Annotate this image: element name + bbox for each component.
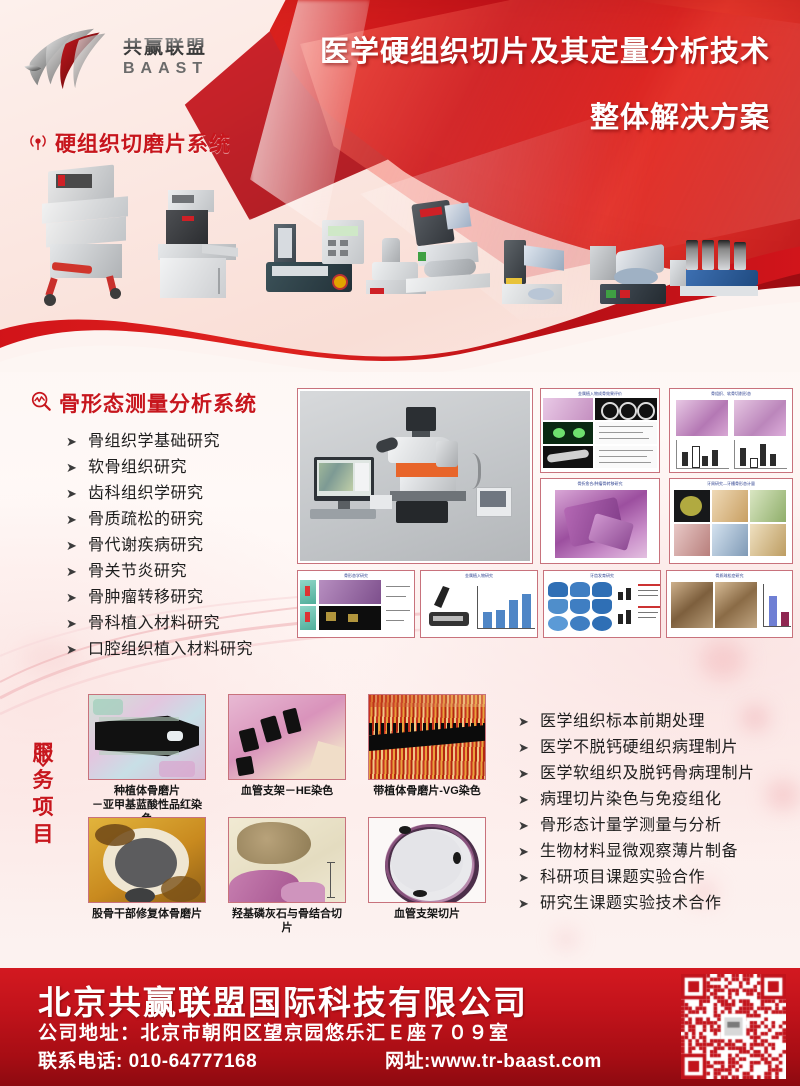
service-photo-6 [368, 817, 486, 903]
service-photo-grid: 种植体骨磨片 －亚甲基蓝酸性品红染色 血管支架－HE染色 带植体骨磨片-VG染色 [88, 694, 508, 914]
gallery-thumb-2: 骨组织、软骨切削形态 [669, 388, 793, 473]
morphometry-item-label: 骨关节炎研究 [88, 562, 187, 581]
gallery-thumb-caption: 骨形态学研究 [298, 571, 414, 579]
gallery-thumb-caption: 骨质疏松症研究 [667, 571, 792, 579]
bullet-arrow-icon: ➤ [66, 640, 88, 659]
equipment-item-6 [500, 240, 584, 310]
gallery-thumb-caption: 牙周研究—牙槽骨形态计量 [670, 479, 792, 487]
thumb-art [669, 580, 790, 635]
decor-blob-3 [766, 780, 800, 810]
page-title-line2: 整体解决方案 [320, 94, 770, 136]
gallery-thumb-3: 骨折愈合/肿瘤骨转移研究 [540, 478, 660, 564]
bullet-arrow-icon: ➤ [518, 738, 540, 757]
service-photo-5-caption: 羟基磷灰石与骨结合切片 [228, 907, 346, 935]
services-vertical-title-char: 服 [26, 740, 60, 767]
footer-address: 公司地址：北京市朝阳区望京园悠乐汇Ｅ座７０９室 [38, 1018, 510, 1045]
morphometry-item: ➤骨肿瘤转移研究 [66, 588, 253, 607]
qr-code[interactable] [681, 974, 786, 1079]
service-item: ➤研究生课题实验技术合作 [518, 894, 755, 913]
service-item: ➤病理切片染色与免疫组化 [518, 790, 755, 809]
service-item: ➤骨形态计量学测量与分析 [518, 816, 755, 835]
service-item: ➤医学组织标本前期处理 [518, 712, 755, 731]
thumb-art [546, 580, 658, 635]
bullet-arrow-icon: ➤ [518, 790, 540, 809]
service-photo-6-caption: 血管支架切片 [368, 907, 486, 921]
bullet-arrow-icon: ➤ [66, 484, 88, 503]
services-list: ➤医学组织标本前期处理➤医学不脱钙硬组织病理制片➤医学软组织及脱钙骨病理制片➤病… [518, 712, 755, 920]
brand-logo-text: 共赢联盟 BAAST [123, 38, 208, 79]
service-item: ➤医学软组织及脱钙骨病理制片 [518, 764, 755, 783]
morphometry-item: ➤齿科组织学研究 [66, 484, 253, 503]
equipment-item-7 [590, 246, 674, 310]
gallery-thumb-6: 金属植入物研究 [420, 570, 538, 638]
gallery-thumb-caption: 金属植入物成骨效果评价 [541, 389, 659, 397]
service-item-label: 病理切片染色与免疫组化 [540, 790, 722, 809]
morphometry-item-label: 软骨组织研究 [88, 458, 187, 477]
section-heading-slicing: 硬组织切磨片系统 [28, 128, 231, 158]
morphometry-item-label: 骨科植入材料研究 [88, 614, 220, 633]
gallery-main-photo [297, 388, 533, 564]
bullet-arrow-icon: ➤ [66, 510, 88, 529]
equipment-item-2 [148, 190, 252, 310]
thumb-art [672, 398, 790, 470]
service-item-label: 科研项目课题实验合作 [540, 868, 705, 887]
service-photo-3-caption: 带植体骨磨片-VG染色 [368, 784, 486, 798]
service-item-label: 医学组织标本前期处理 [540, 712, 705, 731]
services-vertical-title-char: 项 [26, 794, 60, 821]
footer-phone: 联系电话: 010-64777168 [38, 1046, 257, 1073]
morphometry-item-label: 骨组织学基础研究 [88, 432, 220, 451]
service-photo-5 [228, 817, 346, 903]
thumb-art [300, 580, 412, 635]
bullet-arrow-icon: ➤ [66, 562, 88, 581]
services-vertical-title-char: 务 [26, 767, 60, 794]
morphometry-item-label: 口腔组织植入材料研究 [88, 640, 253, 659]
section-heading-morphometry: 骨形态测量分析系统 [30, 388, 257, 418]
service-photo-2-caption: 血管支架－HE染色 [228, 784, 346, 798]
service-item-label: 骨形态计量学测量与分析 [540, 816, 722, 835]
morphometry-item-label: 骨肿瘤转移研究 [88, 588, 204, 607]
thumb-art [423, 580, 535, 635]
morphometry-item-label: 骨质疏松的研究 [88, 510, 204, 529]
bullet-arrow-icon: ➤ [66, 588, 88, 607]
service-item-label: 医学不脱钙硬组织病理制片 [540, 738, 738, 757]
morphometry-item: ➤口腔组织植入材料研究 [66, 640, 253, 659]
gallery-thumb-caption: 骨组织、软骨切削形态 [670, 389, 792, 397]
service-photo-1 [88, 694, 206, 780]
morphometry-item-label: 齿科组织学研究 [88, 484, 204, 503]
gallery-thumb-7: 牙齿发育研究 [543, 570, 661, 638]
decor-blob-1 [700, 640, 746, 680]
decor-blob-5 [556, 930, 576, 948]
service-item-label: 医学软组织及脱钙骨病理制片 [540, 764, 755, 783]
footer-bar: 北京共赢联盟国际科技有限公司 公司地址：北京市朝阳区望京园悠乐汇Ｅ座７０９室 联… [0, 968, 800, 1086]
equipment-item-1 [34, 168, 142, 308]
footer-company: 北京共赢联盟国际科技有限公司 [38, 976, 528, 1024]
gallery-thumb-caption: 骨折愈合/肿瘤骨转移研究 [541, 479, 659, 487]
thumb-art [672, 488, 790, 561]
gallery-thumb-1: 金属植入物成骨效果评价 [540, 388, 660, 473]
poster-root: 医学硬组织切片及其定量分析技术 整体解决方案 [0, 0, 800, 1086]
morphometry-item: ➤骨质疏松的研究 [66, 510, 253, 529]
service-item: ➤生物材料显微观察薄片制备 [518, 842, 755, 861]
page-title-line1: 医学硬组织切片及其定量分析技术 [320, 28, 770, 70]
service-item: ➤科研项目课题实验合作 [518, 868, 755, 887]
equipment-item-5 [400, 202, 504, 310]
header-title-block: 医学硬组织切片及其定量分析技术 整体解决方案 [320, 28, 770, 136]
service-photo-2 [228, 694, 346, 780]
bullet-arrow-icon: ➤ [518, 764, 540, 783]
service-photo-4 [88, 817, 206, 903]
morphometry-item: ➤骨代谢疾病研究 [66, 536, 253, 555]
gallery-thumb-8: 骨质疏松症研究 [666, 570, 793, 638]
bullet-arrow-icon: ➤ [66, 432, 88, 451]
service-item-label: 研究生课题实验技术合作 [540, 894, 722, 913]
magnifier-waveform-icon [30, 390, 52, 417]
section-title-morphometry: 骨形态测量分析系统 [59, 388, 257, 418]
morphometry-item-label: 骨代谢疾病研究 [88, 536, 204, 555]
gallery-thumb-4: 牙周研究—牙槽骨形态计量 [669, 478, 793, 564]
gallery-thumb-caption: 牙齿发育研究 [544, 571, 660, 579]
thumb-art [543, 398, 657, 470]
services-vertical-title-char: 目 [26, 821, 60, 848]
equipment-item-8 [680, 240, 766, 308]
bullet-arrow-icon: ➤ [518, 712, 540, 731]
bullet-arrow-icon: ➤ [518, 816, 540, 835]
brand-logo: 共赢联盟 BAAST [22, 22, 237, 94]
morphometry-item: ➤骨关节炎研究 [66, 562, 253, 581]
bullet-arrow-icon: ➤ [518, 842, 540, 861]
section-title-slicing: 硬组织切磨片系统 [55, 128, 231, 158]
gallery-thumb-caption: 金属植入物研究 [421, 571, 537, 579]
brand-name-cn: 共赢联盟 [123, 38, 208, 59]
morphometry-item: ➤骨组织学基础研究 [66, 432, 253, 451]
bullet-arrow-icon: ➤ [518, 894, 540, 913]
morphometry-item: ➤骨科植入材料研究 [66, 614, 253, 633]
service-photo-4-caption: 股骨干部修复体骨磨片 [88, 907, 206, 921]
target-radar-icon [28, 131, 48, 156]
services-vertical-title: 服务项目 [26, 740, 60, 848]
service-item: ➤医学不脱钙硬组织病理制片 [518, 738, 755, 757]
morphometry-item: ➤软骨组织研究 [66, 458, 253, 477]
bullet-arrow-icon: ➤ [66, 614, 88, 633]
rog-wing-logo-icon [22, 25, 117, 91]
service-item-label: 生物材料显微观察薄片制备 [540, 842, 738, 861]
brand-name-en: BAAST [123, 60, 208, 78]
bullet-arrow-icon: ➤ [66, 458, 88, 477]
bullet-arrow-icon: ➤ [518, 868, 540, 887]
research-gallery: 金属植入物成骨效果评价 [297, 388, 797, 638]
thumb-art [543, 488, 657, 561]
bullet-arrow-icon: ➤ [66, 536, 88, 555]
morphometry-list: ➤骨组织学基础研究➤软骨组织研究➤齿科组织学研究➤骨质疏松的研究➤骨代谢疾病研究… [66, 432, 253, 666]
service-photo-3 [368, 694, 486, 780]
equipment-row [0, 160, 800, 350]
equipment-item-3 [262, 216, 382, 308]
gallery-thumb-5: 骨形态学研究 [297, 570, 415, 638]
footer-website: 网址:www.tr-baast.com [385, 1046, 602, 1073]
